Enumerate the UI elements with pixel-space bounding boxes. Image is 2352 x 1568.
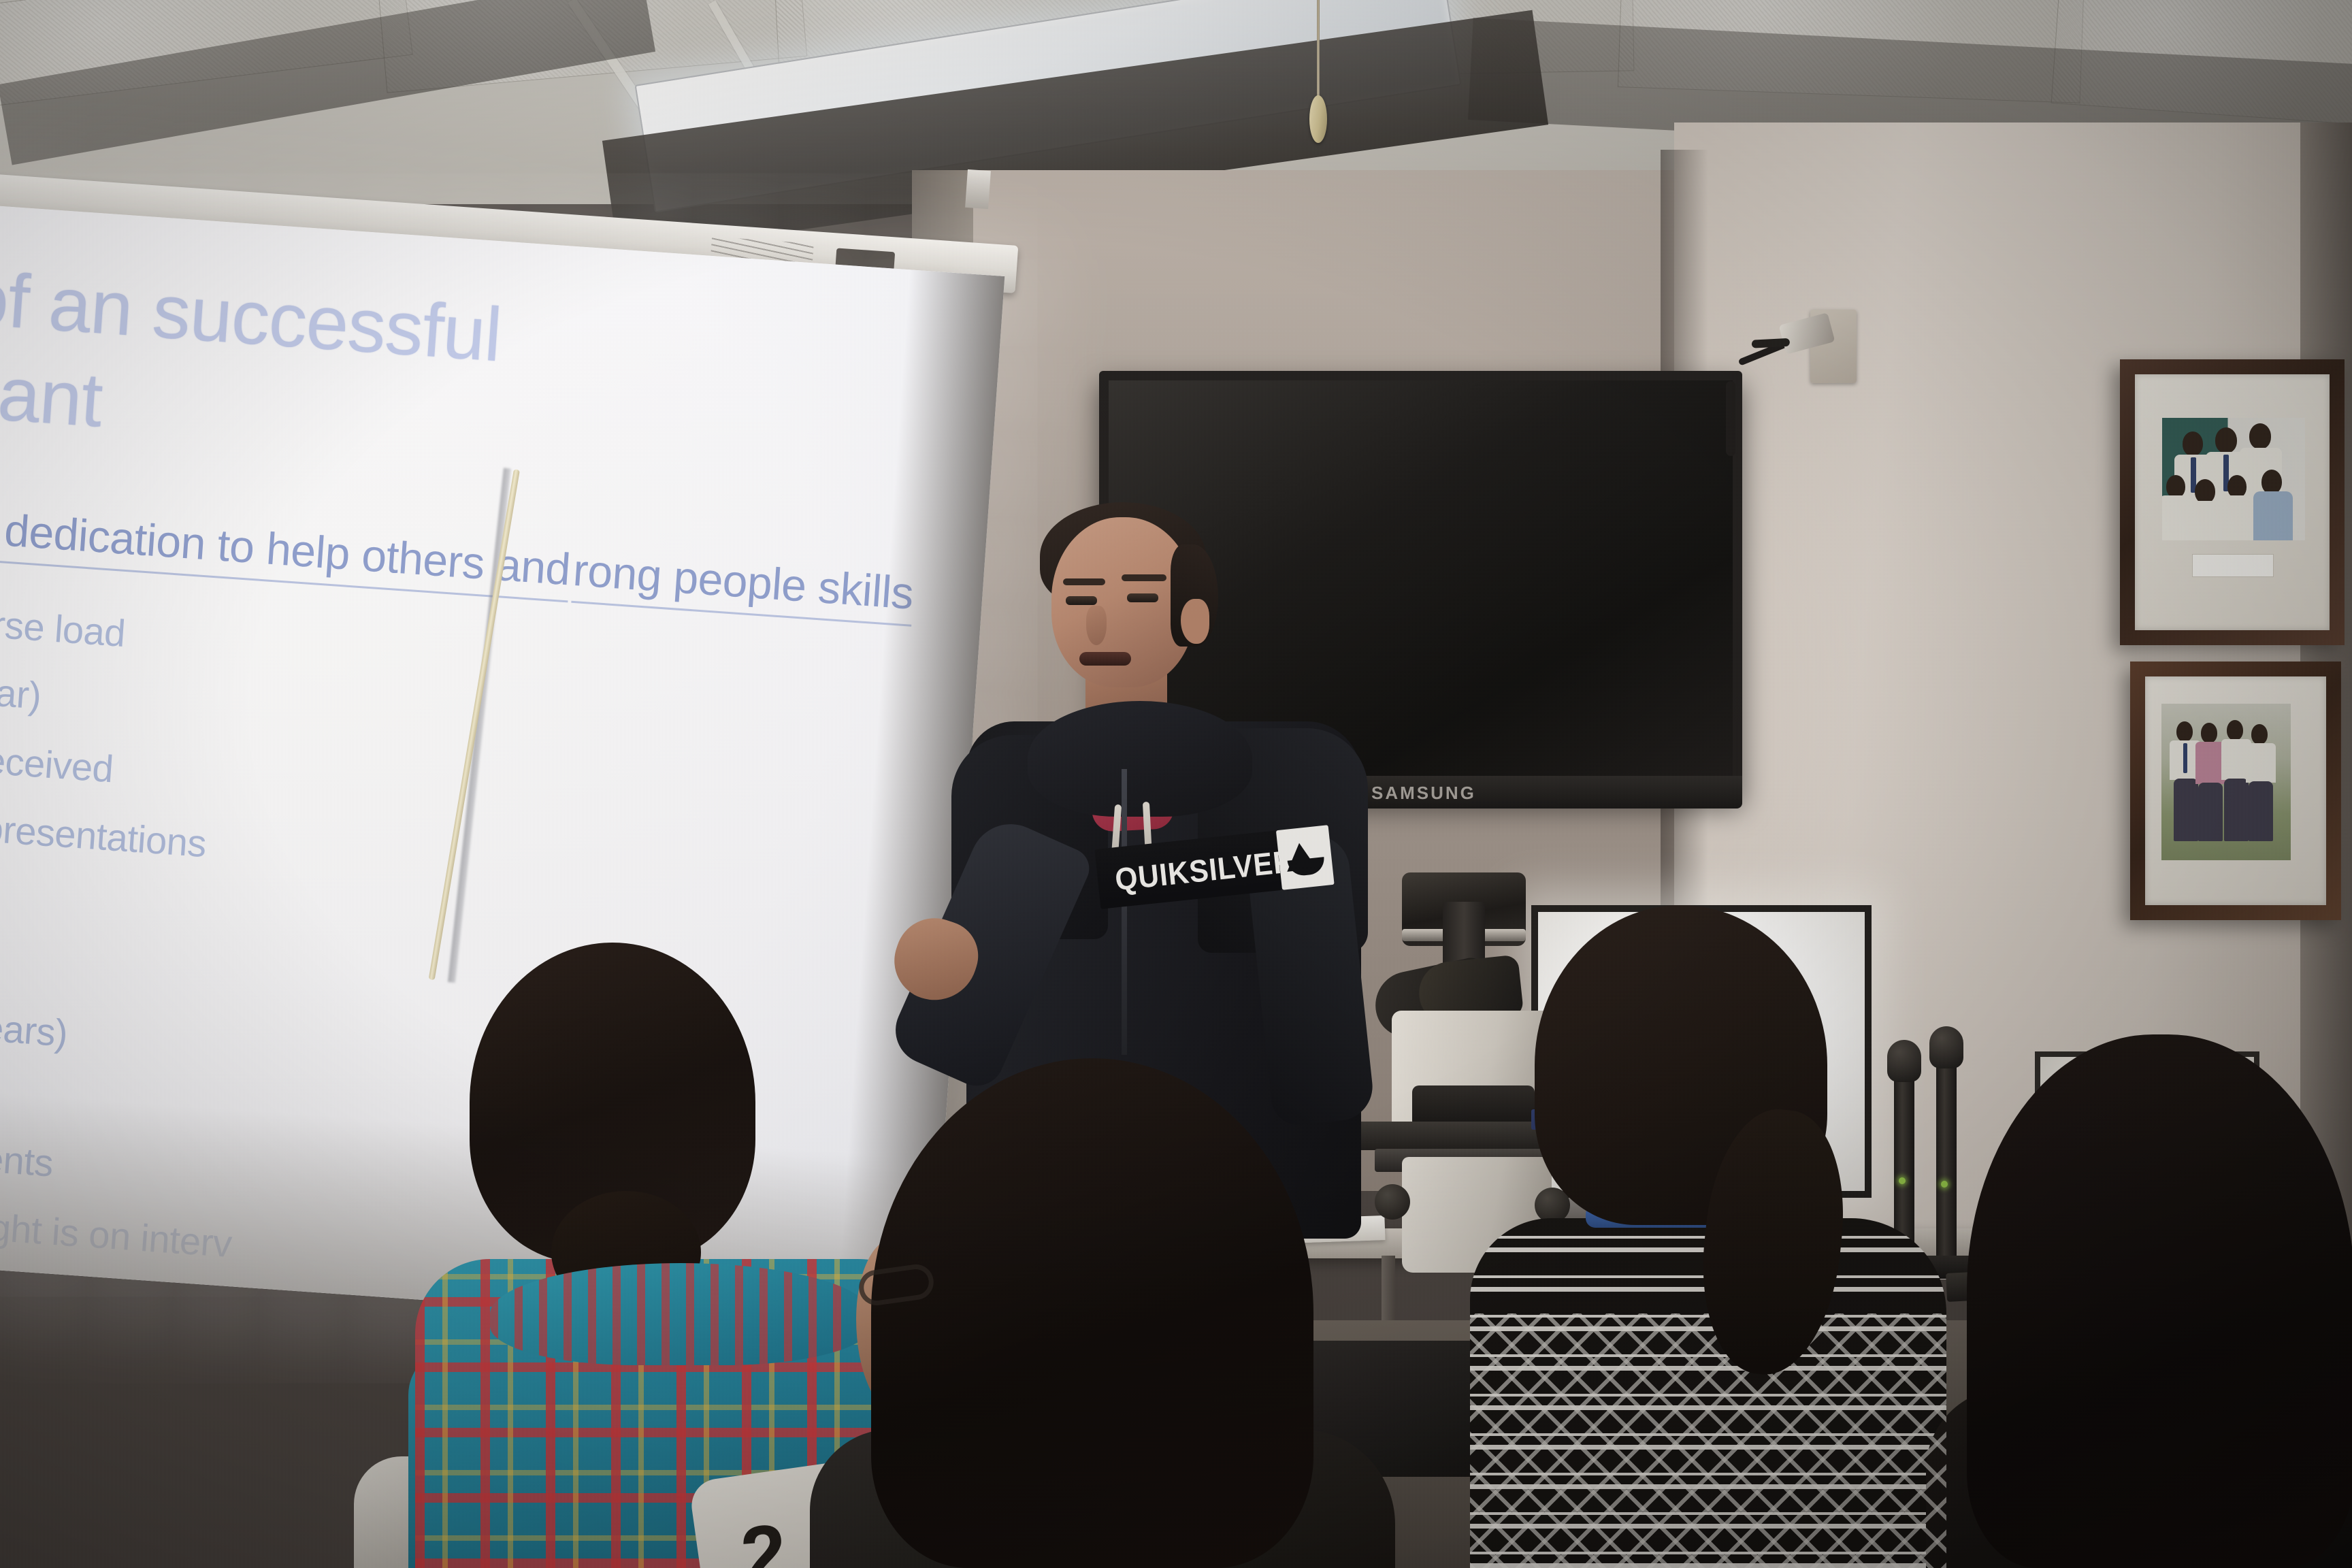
presenter-eye-left bbox=[1066, 596, 1097, 605]
screen-mount-bracket bbox=[965, 169, 991, 209]
presenter-eyebrow-right bbox=[1122, 574, 1166, 581]
photo-person-legs bbox=[2249, 781, 2273, 841]
presenter-ear bbox=[1181, 599, 1209, 644]
photo-caption-plaque bbox=[2182, 866, 2273, 881]
photo-person bbox=[2215, 427, 2237, 453]
student-aztec-pattern bbox=[1470, 1313, 1946, 1568]
quiksilver-wave-mountain-icon bbox=[1276, 825, 1335, 890]
photo-person bbox=[2261, 470, 2282, 494]
student-center-hair bbox=[871, 1058, 1313, 1568]
tv-power-cable-segment bbox=[1726, 381, 1735, 456]
microphone-led-right bbox=[1941, 1181, 1948, 1188]
slide-bullet-major-2: rong people skills bbox=[571, 543, 915, 627]
photo-person bbox=[2187, 501, 2225, 540]
photo-tie bbox=[2183, 743, 2187, 773]
photo-person-legs bbox=[2174, 779, 2198, 841]
pull-cord-toggle[interactable] bbox=[1309, 95, 1327, 143]
presenter-hood bbox=[1028, 701, 1252, 817]
photo-person bbox=[2166, 475, 2185, 498]
presenter-mouth bbox=[1079, 652, 1131, 666]
photo-person bbox=[2227, 475, 2247, 498]
photo-image bbox=[2161, 704, 2291, 860]
classroom-presentation-photo: ofile of an successful applicant eople w… bbox=[0, 0, 2352, 1568]
student-plaid-hood-collar bbox=[490, 1263, 871, 1365]
microphone-led-left bbox=[1899, 1177, 1906, 1184]
photo-person bbox=[2176, 721, 2193, 742]
photo-person-legs bbox=[2198, 783, 2223, 841]
pull-cord[interactable] bbox=[1317, 0, 1320, 102]
presenter-eyebrow-left bbox=[1063, 578, 1105, 585]
photo-caption-plaque bbox=[2192, 554, 2274, 577]
slide-bullet-major-1: eople with dedication to help others and bbox=[0, 489, 572, 603]
student-far-right-hair bbox=[1967, 1034, 2352, 1568]
microphone-head-right bbox=[1929, 1026, 1963, 1068]
presenter-nose bbox=[1086, 606, 1107, 645]
presenter-eye-right bbox=[1127, 593, 1158, 602]
photo-person bbox=[2221, 495, 2256, 540]
photo-person bbox=[2201, 723, 2217, 743]
microphone-right[interactable] bbox=[1936, 1051, 1957, 1269]
photo-person-legs bbox=[2224, 779, 2249, 841]
photo-image bbox=[2162, 418, 2305, 540]
photo-person bbox=[2249, 423, 2271, 449]
framed-group-photo-lower bbox=[2130, 661, 2341, 920]
microphone-head-left bbox=[1887, 1040, 1921, 1082]
photo-person bbox=[2253, 491, 2293, 540]
photo-person bbox=[2246, 743, 2276, 783]
photo-person bbox=[2195, 479, 2215, 504]
photo-person bbox=[2251, 724, 2268, 745]
photo-person bbox=[2227, 720, 2243, 740]
framed-group-photo-upper bbox=[2120, 359, 2345, 645]
photo-person bbox=[2183, 431, 2203, 456]
hoodie-zipper bbox=[1122, 769, 1127, 1055]
